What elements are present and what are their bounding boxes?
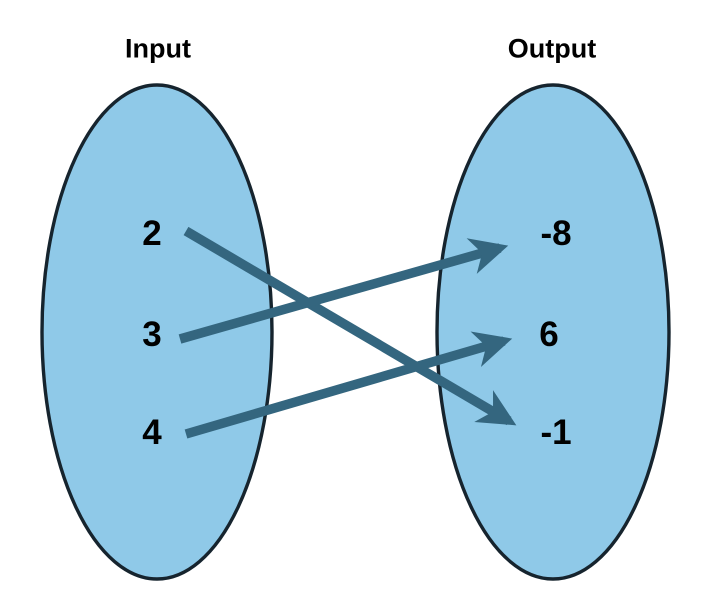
diagram-graphics: [0, 0, 702, 608]
mapping-diagram-canvas: Input Output 2 3 4 -8 6 -1: [0, 0, 702, 608]
input-set-label: Input: [125, 34, 191, 65]
output-set-label: Output: [508, 34, 596, 65]
output-element-neg1: -1: [540, 413, 571, 453]
output-element-neg8: -8: [540, 214, 571, 254]
input-element-2: 2: [142, 214, 161, 254]
input-element-3: 3: [142, 315, 161, 355]
input-element-4: 4: [142, 413, 161, 453]
output-element-6: 6: [539, 315, 558, 355]
